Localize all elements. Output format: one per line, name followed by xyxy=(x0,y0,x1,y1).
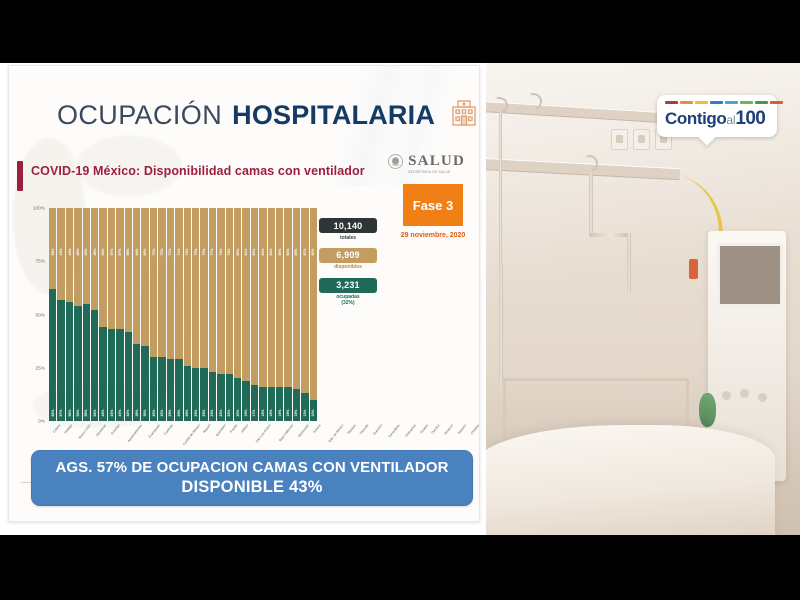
logo-part-2: al xyxy=(726,113,735,127)
slide-header: OCUPACIÓN HOSPITALARIA xyxy=(9,90,479,146)
chart-bar: 83%17% xyxy=(251,208,258,421)
bar-segment-occupied: 19% xyxy=(242,381,249,421)
bar-segment-available: 84% xyxy=(259,208,266,387)
chart-y-axis: 0%25%50%75%100% xyxy=(23,208,47,421)
bar-segment-available: 84% xyxy=(268,208,275,387)
bar-segment-occupied: 25% xyxy=(192,368,199,421)
bar-value-label: 90% xyxy=(311,249,315,256)
chart-bar: 84%16% xyxy=(268,208,275,421)
red-clip-icon xyxy=(689,259,698,279)
y-axis-tick: 0% xyxy=(38,419,45,424)
bar-segment-available: 70% xyxy=(158,208,165,357)
occupancy-chart: 0%25%50%75%100% 38%62%43%57%44%56%46%54%… xyxy=(23,204,363,449)
bar-segment-occupied: 22% xyxy=(217,374,224,421)
bar-value-label: 84% xyxy=(261,249,265,256)
bar-value-label: 52% xyxy=(93,409,97,416)
bar-value-label: 75% xyxy=(194,248,198,255)
bar-value-label: 22% xyxy=(219,409,223,416)
video-frame: OCUPACIÓN HOSPITALARIA xyxy=(0,0,800,600)
bar-value-label: 29% xyxy=(177,409,181,416)
chart-bar: 81%19% xyxy=(242,208,249,421)
logo-color-bar xyxy=(665,101,678,104)
bar-value-label: 75% xyxy=(202,248,206,255)
bar-value-label: 78% xyxy=(227,249,231,256)
bar-segment-available: 56% xyxy=(99,208,106,327)
iv-pole-icon xyxy=(499,109,502,269)
bar-segment-available: 65% xyxy=(141,208,148,346)
slide-subtitle: COVID-19 México: Disponibilidad camas co… xyxy=(31,164,365,178)
bar-value-label: 46% xyxy=(76,249,80,256)
bar-value-label: 77% xyxy=(210,249,214,256)
bar-value-label: 44% xyxy=(101,409,105,416)
bar-segment-available: 75% xyxy=(200,208,207,368)
bar-value-label: 10% xyxy=(311,409,315,416)
bar-value-label: 44% xyxy=(68,249,72,256)
bar-segment-occupied: 29% xyxy=(175,359,182,421)
slide-date: 29 noviembre, 2020 xyxy=(400,232,466,239)
bar-value-label: 87% xyxy=(303,249,307,256)
y-axis-tick: 25% xyxy=(36,365,46,370)
bar-value-label: 57% xyxy=(59,409,63,416)
bar-value-label: 38% xyxy=(51,249,55,256)
wall-outlet-icon xyxy=(633,129,650,150)
logo-color-bar xyxy=(710,101,723,104)
logo-color-bar xyxy=(725,101,738,104)
chart-bar: 84%16% xyxy=(276,208,283,421)
bar-segment-available: 45% xyxy=(83,208,90,304)
chart-bar: 44%56% xyxy=(66,208,73,421)
contigo-al-100-watermark: Contigo al 100 xyxy=(657,95,777,137)
logo-color-bars xyxy=(665,101,783,104)
chart-bar: 38%62% xyxy=(49,208,56,421)
chart-bar: 70%30% xyxy=(158,208,165,421)
callout-caption: ocupadas(32%) xyxy=(319,294,377,307)
bar-segment-available: 38% xyxy=(49,208,56,289)
bar-value-label: 16% xyxy=(286,409,290,416)
salud-subtext: SECRETARÍA DE SALUD xyxy=(408,171,465,174)
bar-segment-occupied: 35% xyxy=(141,346,148,421)
panel-seam xyxy=(484,63,486,535)
bar-segment-available: 74% xyxy=(184,208,191,366)
bar-segment-available: 64% xyxy=(133,208,140,344)
bar-value-label: 83% xyxy=(252,249,256,256)
bar-segment-occupied: 22% xyxy=(226,374,233,421)
callout-caption: totales xyxy=(319,235,377,241)
bar-segment-occupied: 36% xyxy=(133,344,140,421)
bar-segment-occupied: 43% xyxy=(116,329,123,421)
bar-segment-available: 78% xyxy=(217,208,224,374)
pole-stem xyxy=(499,263,503,383)
bar-segment-available: 58% xyxy=(125,208,132,332)
bar-value-label: 20% xyxy=(236,409,240,416)
chart-bar: 80%20% xyxy=(234,208,241,421)
bar-segment-occupied: 16% xyxy=(284,387,291,421)
bar-value-label: 17% xyxy=(252,409,256,416)
ventilator-knob xyxy=(758,393,767,402)
bar-value-label: 30% xyxy=(152,409,156,416)
title-bold: HOSPITALARIA xyxy=(232,100,435,131)
bar-value-label: 64% xyxy=(135,249,139,256)
logo-color-bar xyxy=(695,101,708,104)
presentation-slide: OCUPACIÓN HOSPITALARIA xyxy=(0,63,485,535)
bar-value-label: 16% xyxy=(261,409,265,416)
bar-segment-occupied: 15% xyxy=(293,389,300,421)
chart-bar: 70%30% xyxy=(150,208,157,421)
chart-callouts: 10,140totales6,909disponibles3,231ocupad… xyxy=(319,218,377,314)
bar-value-label: 23% xyxy=(210,409,214,416)
slide-canvas: OCUPACIÓN HOSPITALARIA xyxy=(8,65,480,522)
bar-segment-available: 44% xyxy=(66,208,73,302)
logo-color-bar xyxy=(740,101,753,104)
bar-segment-occupied: 55% xyxy=(83,304,90,421)
bar-segment-occupied: 13% xyxy=(301,393,308,421)
bar-segment-available: 77% xyxy=(209,208,216,372)
bar-value-label: 71% xyxy=(177,249,181,256)
chart-bar: 46%54% xyxy=(74,208,81,421)
bar-segment-available: 80% xyxy=(234,208,241,378)
bar-segment-occupied: 56% xyxy=(66,302,73,421)
bar-value-label: 25% xyxy=(194,409,198,416)
logo-color-bar xyxy=(680,101,693,104)
bar-segment-occupied: 16% xyxy=(276,387,283,421)
chart-bar: 90%10% xyxy=(310,208,317,421)
logo-part-1: Contigo xyxy=(665,109,726,129)
salud-wordmark: SALUD xyxy=(408,154,465,169)
banner-line-2: DISPONIBLE 43% xyxy=(181,478,322,497)
ventilator-knob xyxy=(740,389,749,398)
bar-value-label: 22% xyxy=(227,409,231,416)
hospital-building-icon xyxy=(449,98,479,133)
bar-segment-available: 48% xyxy=(91,208,98,310)
chart-bar: 75%25% xyxy=(200,208,207,421)
y-axis-tick: 75% xyxy=(36,259,46,264)
banner-line-1: AGS. 57% DE OCUPACION CAMAS CON VENTILAD… xyxy=(55,459,448,476)
bar-segment-available: 84% xyxy=(276,208,283,387)
bar-value-label: 56% xyxy=(68,409,72,416)
bar-segment-occupied: 30% xyxy=(158,357,165,421)
bar-value-label: 65% xyxy=(143,249,147,256)
bar-segment-occupied: 43% xyxy=(108,329,115,421)
bar-value-label: 57% xyxy=(110,249,114,256)
bar-value-label: 58% xyxy=(126,249,130,256)
bar-segment-occupied: 20% xyxy=(234,378,241,421)
chart-bar: 58%42% xyxy=(125,208,132,421)
wall-outlet-icon xyxy=(611,129,628,150)
bar-value-label: 57% xyxy=(118,249,122,256)
bar-value-label: 71% xyxy=(168,249,172,256)
page-title: OCUPACIÓN HOSPITALARIA xyxy=(57,98,479,133)
bar-value-label: 43% xyxy=(110,409,114,416)
summary-banner: AGS. 57% DE OCUPACION CAMAS CON VENTILAD… xyxy=(31,450,473,506)
bar-segment-occupied: 54% xyxy=(74,306,81,421)
bar-segment-available: 84% xyxy=(284,208,291,387)
bar-segment-occupied: 29% xyxy=(167,359,174,421)
chart-bar: 75%25% xyxy=(192,208,199,421)
bar-value-label: 42% xyxy=(126,409,130,416)
chart-bar: 45%55% xyxy=(83,208,90,421)
chart-x-axis: ColimaHidalgoNuevo LeónZacatecasDurangoA… xyxy=(49,424,317,448)
chart-bars: 38%62%43%57%44%56%46%54%45%55%48%52%56%4… xyxy=(49,208,317,421)
callout-value: 6,909 xyxy=(319,248,377,263)
wall-pipe xyxy=(627,233,631,293)
bar-segment-occupied: 10% xyxy=(310,400,317,421)
bar-segment-available: 46% xyxy=(74,208,81,306)
bar-segment-available: 43% xyxy=(57,208,64,300)
bar-segment-occupied: 26% xyxy=(184,366,191,421)
video-content: OCUPACIÓN HOSPITALARIA xyxy=(0,63,800,535)
bar-value-label: 43% xyxy=(59,249,63,256)
subtitle-accent-bar xyxy=(17,161,23,191)
logo-wordmark: Contigo al 100 xyxy=(665,108,765,130)
bar-value-label: 16% xyxy=(278,409,282,416)
bar-value-label: 15% xyxy=(294,409,298,416)
chart-bar: 84%16% xyxy=(259,208,266,421)
bar-segment-occupied: 57% xyxy=(57,300,64,421)
chart-bar: 77%23% xyxy=(209,208,216,421)
bar-value-label: 26% xyxy=(185,409,189,416)
bar-segment-occupied: 30% xyxy=(150,357,157,421)
bar-segment-occupied: 42% xyxy=(125,332,132,421)
bar-segment-available: 87% xyxy=(301,208,308,393)
bar-value-label: 56% xyxy=(101,249,105,256)
wall-pipe xyxy=(589,233,631,237)
bar-segment-occupied: 25% xyxy=(200,368,207,421)
bar-value-label: 19% xyxy=(244,409,248,416)
bar-value-label: 62% xyxy=(51,409,55,416)
chart-bar: 57%43% xyxy=(108,208,115,421)
bar-value-label: 35% xyxy=(143,409,147,416)
bar-segment-available: 70% xyxy=(150,208,157,357)
bar-value-label: 13% xyxy=(303,409,307,416)
mexican-eagle-seal-icon xyxy=(388,154,403,174)
bar-segment-available: 81% xyxy=(242,208,249,381)
chart-bar: 74%26% xyxy=(184,208,191,421)
logo-color-bar xyxy=(755,101,768,104)
bar-value-label: 30% xyxy=(160,409,164,416)
bar-segment-available: 71% xyxy=(175,208,182,359)
chart-bar: 43%57% xyxy=(57,208,64,421)
chart-bar: 56%44% xyxy=(99,208,106,421)
bar-segment-available: 57% xyxy=(108,208,115,329)
bar-segment-occupied: 52% xyxy=(91,310,98,421)
bar-value-label: 84% xyxy=(269,249,273,256)
bar-segment-available: 83% xyxy=(251,208,258,385)
bar-value-label: 36% xyxy=(135,409,139,416)
chart-bar: 87%13% xyxy=(301,208,308,421)
bar-value-label: 55% xyxy=(84,409,88,416)
bar-value-label: 54% xyxy=(76,409,80,416)
bar-segment-available: 78% xyxy=(226,208,233,374)
y-axis-tick: 50% xyxy=(36,312,46,317)
bar-value-label: 16% xyxy=(269,409,273,416)
bar-value-label: 70% xyxy=(160,249,164,256)
ventilator-screen xyxy=(717,243,783,307)
bar-segment-occupied: 16% xyxy=(259,387,266,421)
bar-segment-available: 57% xyxy=(116,208,123,329)
bar-value-label: 29% xyxy=(168,409,172,416)
chart-bar: 57%43% xyxy=(116,208,123,421)
bar-value-label: 85% xyxy=(294,249,298,256)
fase-label: Fase 3 xyxy=(413,198,453,213)
bar-value-label: 84% xyxy=(286,249,290,256)
hospital-room-photo: Contigo al 100 xyxy=(485,63,800,535)
chart-bar: 71%29% xyxy=(167,208,174,421)
bar-segment-available: 71% xyxy=(167,208,174,359)
bar-segment-occupied: 17% xyxy=(251,385,258,421)
ventilator-knob xyxy=(722,391,731,400)
title-light: OCUPACIÓN xyxy=(57,100,222,131)
logo-part-3: 100 xyxy=(735,108,765,130)
chart-bar: 84%16% xyxy=(284,208,291,421)
oxygen-bag-icon xyxy=(699,393,716,427)
bar-value-label: 25% xyxy=(202,409,206,416)
chart-bar: 78%22% xyxy=(226,208,233,421)
bar-segment-occupied: 23% xyxy=(209,372,216,421)
logo-color-bar xyxy=(770,101,783,104)
bar-segment-available: 85% xyxy=(293,208,300,389)
bar-segment-occupied: 62% xyxy=(49,289,56,421)
bar-value-label: 70% xyxy=(152,249,156,256)
bar-value-label: 74% xyxy=(185,249,189,256)
chart-bar: 64%36% xyxy=(133,208,140,421)
callout-value: 3,231 xyxy=(319,278,377,293)
chart-bar: 78%22% xyxy=(217,208,224,421)
chart-bar: 85%15% xyxy=(293,208,300,421)
bar-segment-available: 90% xyxy=(310,208,317,400)
callout-caption: disponibles xyxy=(319,264,377,270)
bar-value-label: 84% xyxy=(278,249,282,256)
chart-bar: 48%52% xyxy=(91,208,98,421)
hospital-bed-icon xyxy=(485,425,775,535)
bar-segment-occupied: 44% xyxy=(99,327,106,421)
bar-value-label: 80% xyxy=(236,249,240,256)
chart-bar: 71%29% xyxy=(175,208,182,421)
bar-segment-occupied: 16% xyxy=(268,387,275,421)
bar-value-label: 45% xyxy=(84,249,88,256)
bar-value-label: 43% xyxy=(118,409,122,416)
wall-pipe xyxy=(589,173,593,235)
bar-value-label: 78% xyxy=(219,249,223,256)
bar-value-label: 81% xyxy=(244,249,248,256)
chart-bar: 65%35% xyxy=(141,208,148,421)
salud-logo: SALUD SECRETARÍA DE SALUD xyxy=(388,154,465,174)
bar-value-label: 48% xyxy=(93,249,97,256)
status-badge: Fase 3 xyxy=(403,184,463,226)
y-axis-tick: 100% xyxy=(33,206,45,211)
bar-segment-available: 75% xyxy=(192,208,199,368)
callout-value: 10,140 xyxy=(319,218,377,233)
